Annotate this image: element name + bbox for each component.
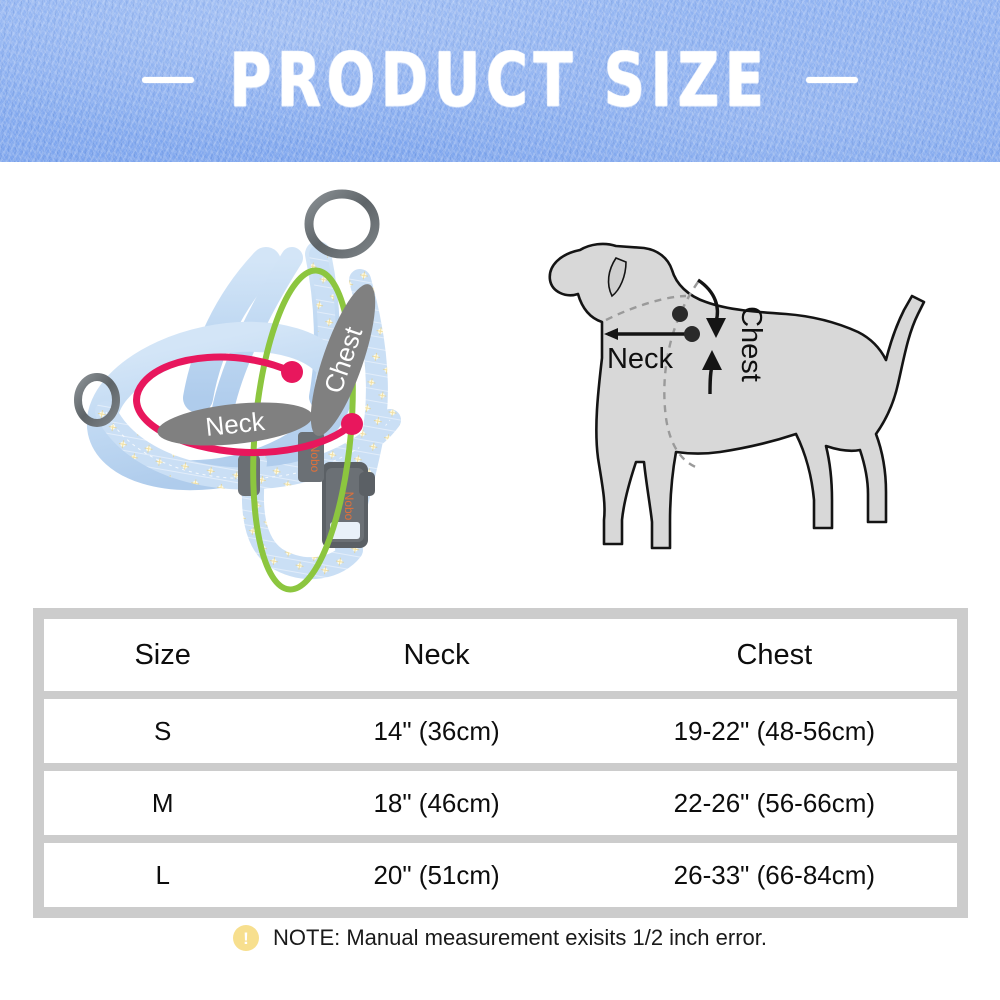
page-title: PRODUCT SIZE [230,36,770,123]
cell-chest: 22-26" (56-66cm) [592,788,957,819]
dog-chest-label: Chest [735,306,767,382]
note-text: NOTE: Manual measurement exisits 1/2 inc… [273,925,767,951]
harness-illustration: Nobo Nobo Neck Chest [60,162,490,602]
neck-point-dot [672,306,688,322]
row-divider [44,691,957,699]
title-dash-left [142,77,194,83]
table-header-size: Size [44,639,281,672]
cell-neck: 20" (51cm) [281,860,591,891]
table-header-chest: Chest [592,639,957,672]
row-divider [44,835,957,843]
header-banner: PRODUCT SIZE [0,0,1000,162]
title-dash-right [806,77,858,83]
cell-size: S [44,716,281,747]
strap-slider [238,454,260,496]
cell-chest: 19-22" (48-56cm) [592,716,957,747]
dog-neck-label: Neck [607,343,674,375]
exclamation-icon: ! [233,925,259,951]
table-row: S 14" (36cm) 19-22" (48-56cm) [44,699,957,763]
cell-neck: 14" (36cm) [281,716,591,747]
chest-point-dot [684,326,700,342]
d-ring-top [309,194,375,254]
cell-size: L [44,860,281,891]
cell-chest: 26-33" (66-84cm) [592,860,957,891]
table-header-row: Size Neck Chest [44,619,957,691]
title-row: PRODUCT SIZE [0,44,1000,116]
table-header-neck: Neck [281,639,591,672]
table-row: M 18" (46cm) 22-26" (56-66cm) [44,771,957,835]
harness-neck-label-text: Neck [204,406,267,442]
table-row: L 20" (51cm) 26-33" (66-84cm) [44,843,957,907]
note-row: ! NOTE: Manual measurement exisits 1/2 i… [0,925,1000,951]
row-divider [44,763,957,771]
dog-illustration: Neck Chest [520,162,950,602]
cell-size: M [44,788,281,819]
illustration-area: Nobo Nobo Neck Chest [0,162,1000,602]
dog-silhouette [550,244,924,548]
size-table: Size Neck Chest S 14" (36cm) 19-22" (48-… [33,608,968,918]
cell-neck: 18" (46cm) [281,788,591,819]
